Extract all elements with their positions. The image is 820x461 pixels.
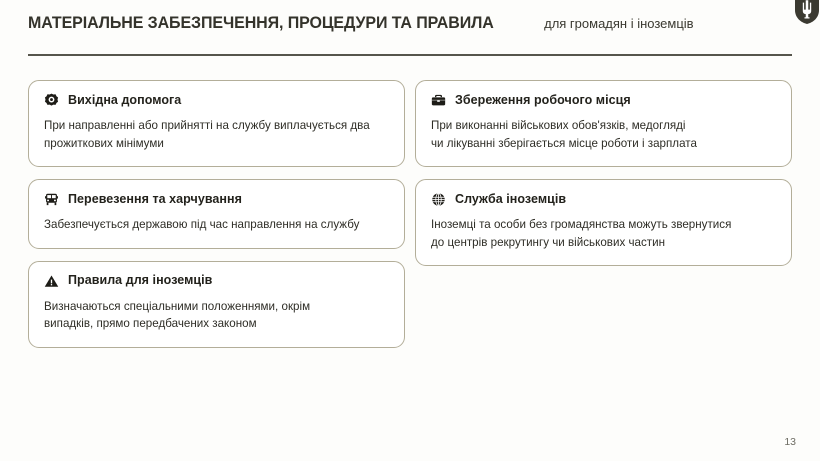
card-title: Правила для іноземців <box>68 274 212 288</box>
card-body-line: прожиткових мінімуми <box>44 135 389 153</box>
card-transport-and-meals[interactable]: Перевезення та харчування Забезпечується… <box>28 179 405 249</box>
briefcase-icon <box>431 93 446 108</box>
header-text-group: МАТЕРІАЛЬНЕ ЗАБЕЗПЕЧЕННЯ, ПРОЦЕДУРИ ТА П… <box>28 14 792 33</box>
card-body-line: При направленні або прийнятті на службу … <box>44 117 389 135</box>
bus-icon <box>44 192 59 207</box>
card-body-line: чи лікуванні зберігається місце роботи і… <box>431 135 776 153</box>
card-body-line: Визначаються спеціальними положеннями, о… <box>44 298 389 316</box>
card-header: Перевезення та харчування <box>44 192 389 207</box>
header-divider <box>28 54 792 56</box>
card-title: Служба іноземців <box>455 193 566 207</box>
card-body-line: випадків, прямо передбачених законом <box>44 315 389 333</box>
card-rules-for-foreigners[interactable]: Правила для іноземців Визначаються спеці… <box>28 261 405 348</box>
card-body: Забезпечується державою під час направле… <box>44 216 389 234</box>
card-foreigners-service[interactable]: Служба іноземців Іноземці та особи без г… <box>415 179 792 266</box>
card-body: Визначаються спеціальними положеннями, о… <box>44 298 389 333</box>
globe-icon <box>431 192 446 207</box>
card-header: Вихідна допомога <box>44 93 389 108</box>
card-title: Збереження робочого місця <box>455 94 631 108</box>
page-number: 13 <box>784 436 796 448</box>
card-body-line: При виконанні військових обов'язків, мед… <box>431 117 776 135</box>
page-title: МАТЕРІАЛЬНЕ ЗАБЕЗПЕЧЕННЯ, ПРОЦЕДУРИ ТА П… <box>28 14 494 33</box>
ukraine-trident-shield-emblem <box>794 0 820 25</box>
slide-header: МАТЕРІАЛЬНЕ ЗАБЕЗПЕЧЕННЯ, ПРОЦЕДУРИ ТА П… <box>0 0 820 58</box>
card-header: Служба іноземців <box>431 192 776 207</box>
card-body: При направленні або прийнятті на службу … <box>44 117 389 152</box>
gear-icon <box>44 93 59 108</box>
card-body-line: Іноземці та особи без громадянства можут… <box>431 216 776 234</box>
card-title: Перевезення та харчування <box>68 193 242 207</box>
card-job-retention[interactable]: Збереження робочого місця При виконанні … <box>415 80 792 167</box>
slide: МАТЕРІАЛЬНЕ ЗАБЕЗПЕЧЕННЯ, ПРОЦЕДУРИ ТА П… <box>0 0 820 461</box>
card-body: При виконанні військових обов'язків, мед… <box>431 117 776 152</box>
card-header: Правила для іноземців <box>44 274 389 289</box>
card-body-line: до центрів рекрутингу чи військових част… <box>431 234 776 252</box>
page-subtitle: для громадян і іноземців <box>544 16 693 31</box>
card-title: Вихідна допомога <box>68 94 181 108</box>
card-body: Іноземці та особи без громадянства можут… <box>431 216 776 251</box>
warning-triangle-icon <box>44 274 59 289</box>
card-body-line: Забезпечується державою під час направле… <box>44 216 389 234</box>
card-severance-pay[interactable]: Вихідна допомога При направленні або при… <box>28 80 405 167</box>
cards-board: Вихідна допомога При направленні або при… <box>28 80 792 340</box>
left-column: Вихідна допомога При направленні або при… <box>28 80 405 360</box>
card-header: Збереження робочого місця <box>431 93 776 108</box>
right-column: Збереження робочого місця При виконанні … <box>415 80 792 278</box>
